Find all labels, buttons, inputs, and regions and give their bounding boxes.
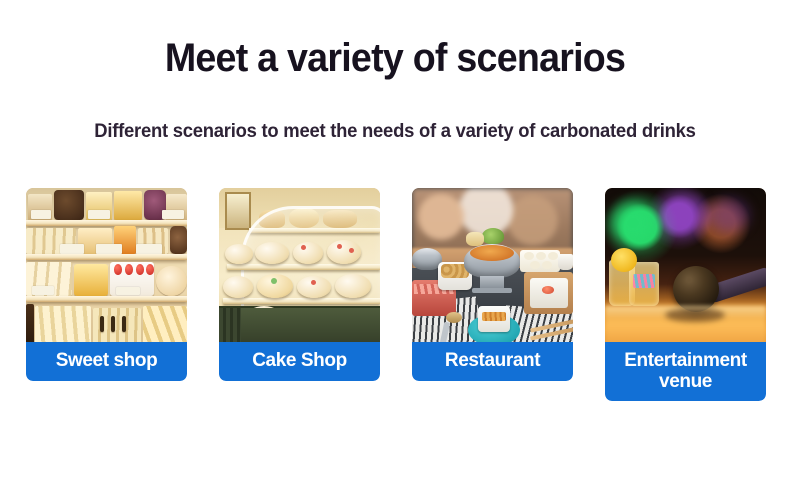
scenario-card-list: Sweet shop — [26, 188, 766, 401]
scenario-card-sweet-shop[interactable]: Sweet shop — [26, 188, 187, 381]
sweet-shop-photo — [26, 188, 187, 366]
restaurant-photo — [412, 188, 573, 366]
scenario-card-label[interactable]: Sweet shop — [26, 342, 187, 381]
entertainment-venue-photo — [605, 188, 766, 366]
scenario-card-label[interactable]: Restaurant — [412, 342, 573, 381]
scenario-card-label[interactable]: Cake Shop — [219, 342, 380, 381]
scenarios-section: Meet a variety of scenarios Different sc… — [0, 0, 790, 478]
page-subtitle: Different scenarios to meet the needs of… — [12, 119, 778, 145]
scenario-card-cake-shop[interactable]: Cake Shop — [219, 188, 380, 381]
scenario-card-restaurant[interactable]: Restaurant — [412, 188, 573, 381]
scenario-card-entertainment-venue[interactable]: Entertainment venue — [605, 188, 766, 401]
cake-shop-photo — [219, 188, 380, 366]
page-title: Meet a variety of scenarios — [24, 34, 767, 82]
scenario-card-label[interactable]: Entertainment venue — [605, 342, 766, 401]
